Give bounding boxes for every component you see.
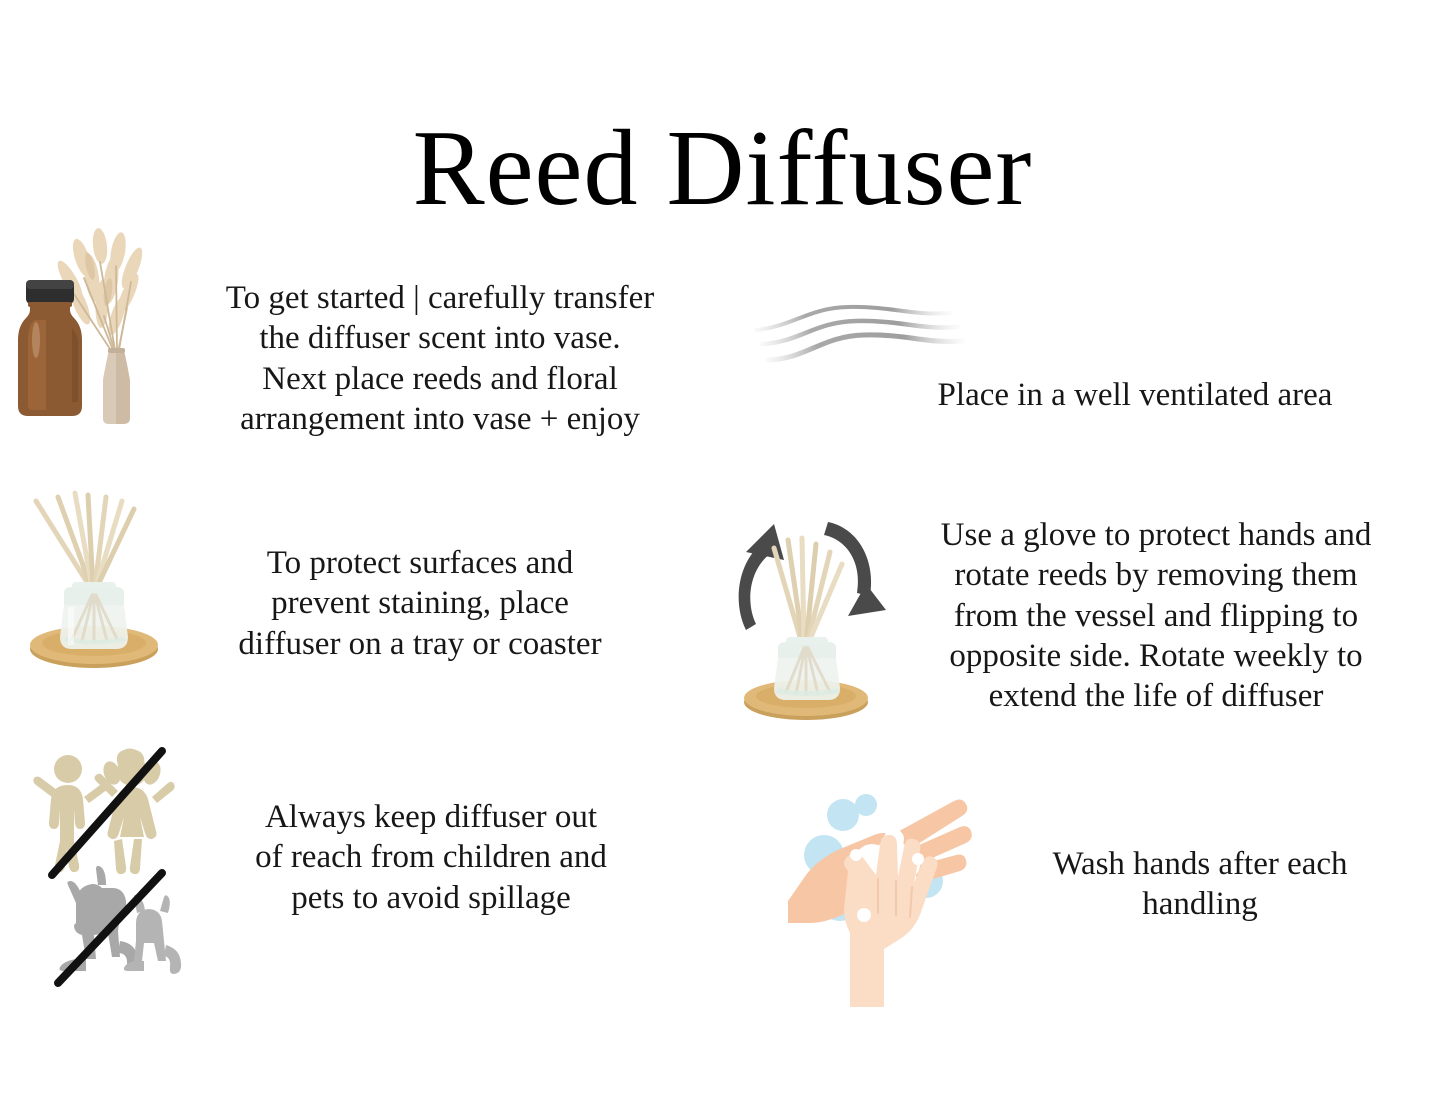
bottle-pampas-vase-icon xyxy=(12,232,172,427)
caption-rotate: Use a glove to protect hands and rotate … xyxy=(872,515,1440,716)
caption-wash: Wash hands after each handling xyxy=(985,844,1415,925)
caption-get-started: To get started | carefully transfer the … xyxy=(150,278,730,439)
instruction-text-wash: Wash hands after each handling xyxy=(985,844,1415,925)
instruction-text-tray: To protect surfaces and prevent staining… xyxy=(170,543,670,664)
reed-diffuser-on-tray-icon xyxy=(20,487,170,672)
instruction-text-get-started: To get started | carefully transfer the … xyxy=(150,278,730,439)
caption-children: Always keep diffuser out of reach from c… xyxy=(185,797,677,918)
caption-ventilated: Place in a well ventilated area xyxy=(850,375,1420,415)
instruction-text-ventilated: Place in a well ventilated area xyxy=(850,375,1420,415)
instruction-text-children: Always keep diffuser out of reach from c… xyxy=(185,797,677,918)
instruction-text-rotate: Use a glove to protect hands and rotate … xyxy=(872,515,1440,716)
caption-tray: To protect surfaces and prevent staining… xyxy=(170,543,670,664)
washing-hands-icon xyxy=(788,783,973,1008)
no-children-no-pets-icon xyxy=(40,745,190,988)
page-title: Reed Diffuser xyxy=(0,112,1445,225)
infographic-page: Reed Diffuser xyxy=(0,0,1445,1117)
